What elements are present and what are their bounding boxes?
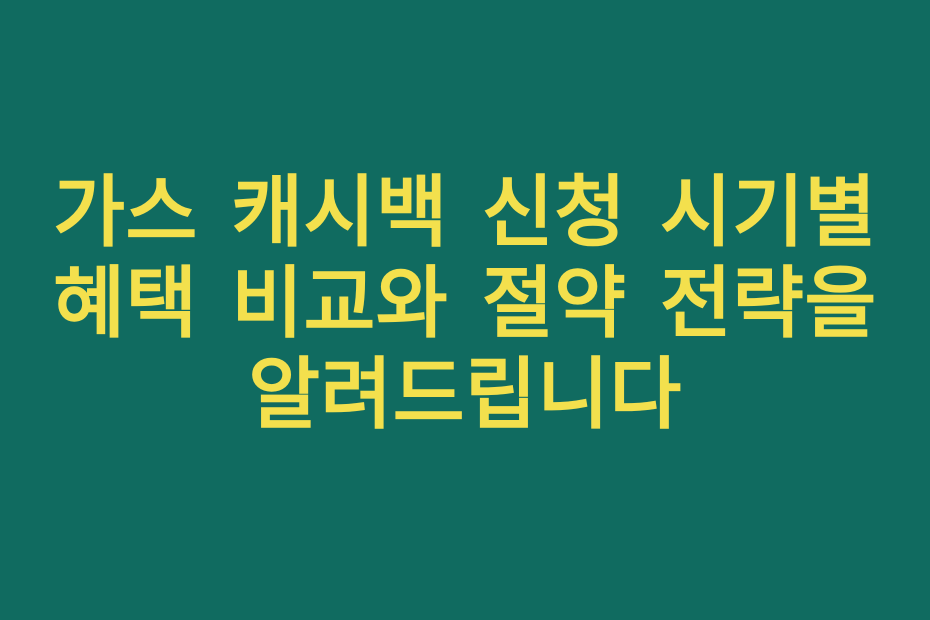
headline-line-1: 가스 캐시백 신청 시기별 [34,168,896,259]
headline-text-block: 가스 캐시백 신청 시기별 혜택 비교와 절약 전략을 알려드립니다 [0,168,930,441]
headline-line-3: 알려드립니다 [34,350,896,441]
banner-canvas: 가스 캐시백 신청 시기별 혜택 비교와 절약 전략을 알려드립니다 [0,0,930,620]
headline-line-2: 혜택 비교와 절약 전략을 [34,259,896,350]
